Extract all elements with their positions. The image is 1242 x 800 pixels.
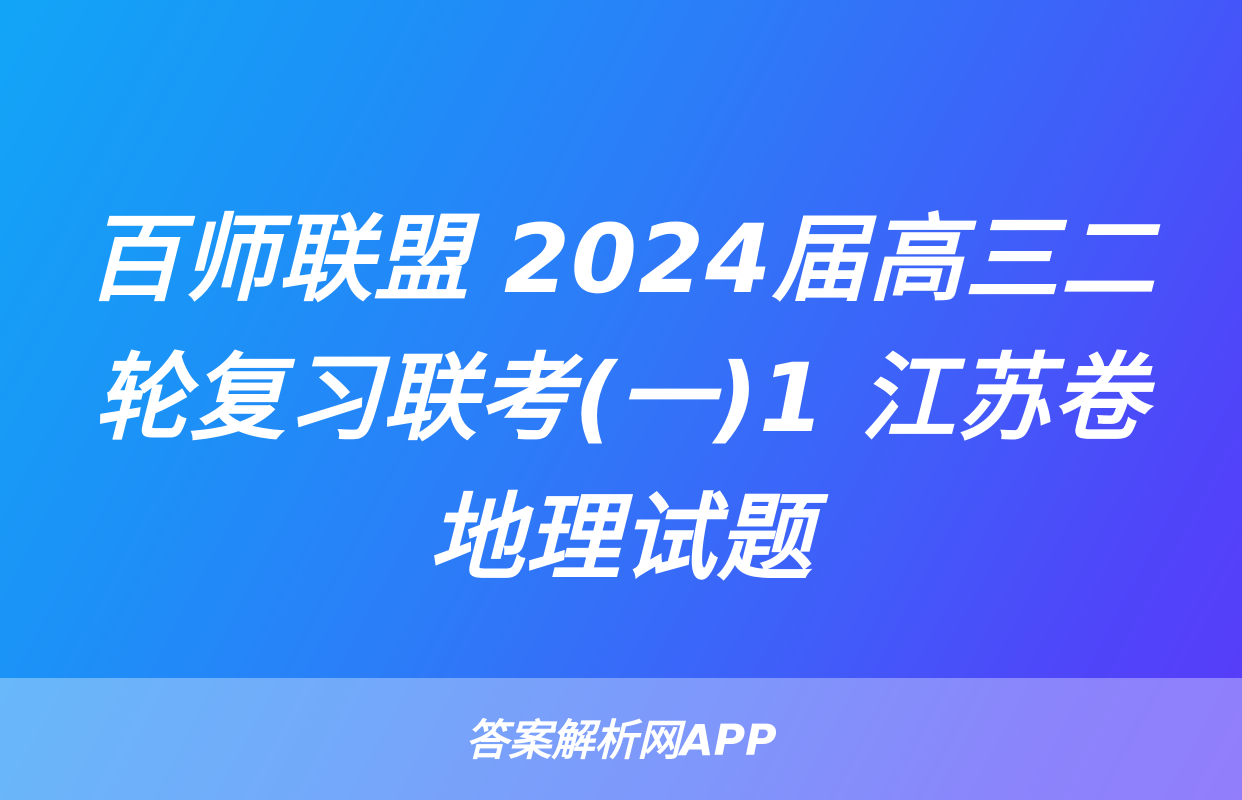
title-line-1: 百师联盟 2024届高三二 [86, 191, 1156, 331]
title-line-3: 地理试题 [429, 470, 813, 610]
page-title: 百师联盟 2024届高三二 轮复习联考(一)1 江苏卷 地理试题 [0, 160, 1242, 640]
watermark-text: 答案解析网APP [465, 720, 776, 763]
title-card: 百师联盟 2024届高三二 轮复习联考(一)1 江苏卷 地理试题 答案解析网AP… [0, 0, 1242, 800]
title-line-2: 轮复习联考(一)1 江苏卷 [94, 330, 1148, 470]
watermark-band: 答案解析网APP [0, 678, 1242, 800]
